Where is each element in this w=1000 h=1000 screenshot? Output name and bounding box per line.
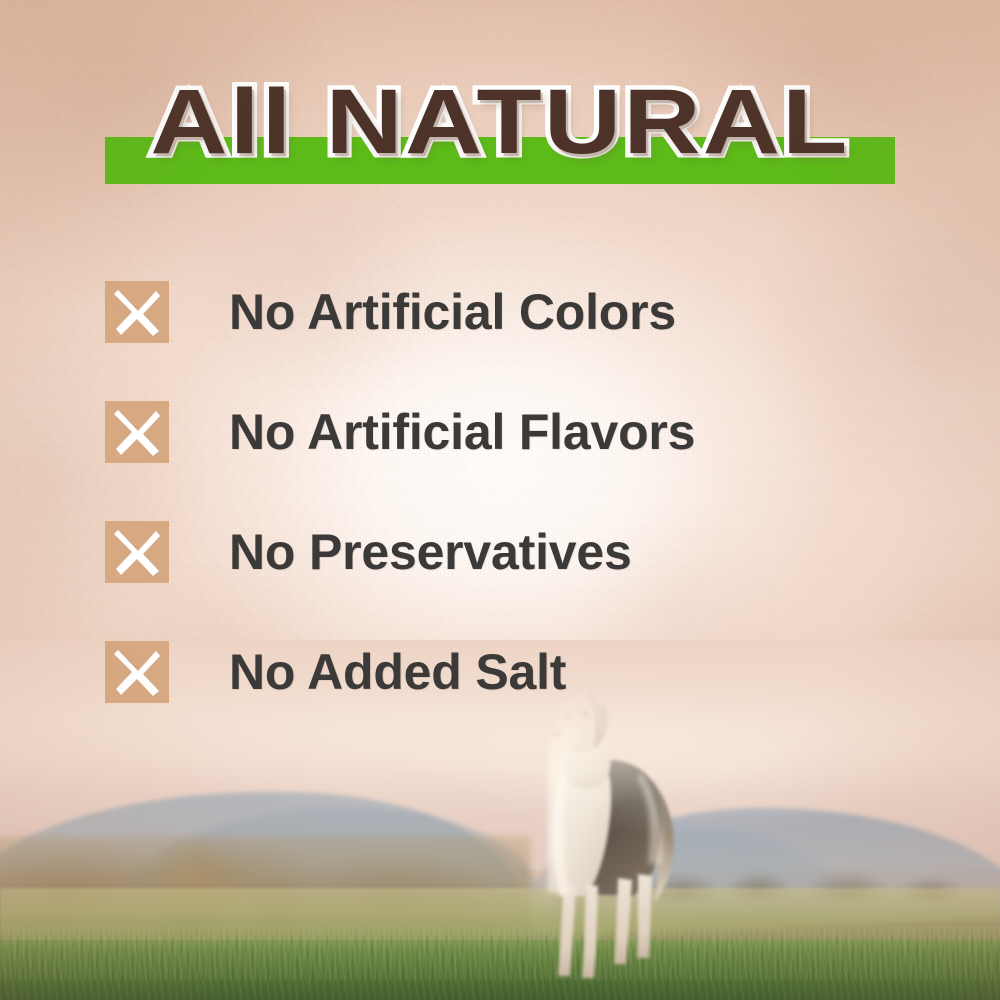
x-mark-icon bbox=[105, 401, 169, 463]
x-mark-icon bbox=[105, 281, 169, 343]
list-item: No Preservatives bbox=[105, 492, 915, 612]
all-natural-poster: All NATURAL No Artificial Colors No Arti… bbox=[0, 0, 1000, 1000]
list-item: No Added Salt bbox=[105, 612, 915, 732]
x-mark-icon bbox=[105, 641, 169, 703]
page-title: All NATURAL bbox=[0, 74, 1000, 170]
grass-bottom-shadow bbox=[0, 880, 1000, 1000]
dog-leg-front-left bbox=[558, 882, 576, 976]
list-item-label: No Added Salt bbox=[229, 641, 566, 703]
list-item-label: No Artificial Colors bbox=[229, 281, 676, 343]
feature-list: No Artificial Colors No Artificial Flavo… bbox=[105, 252, 915, 732]
x-mark-icon bbox=[105, 521, 169, 583]
list-item: No Artificial Colors bbox=[105, 252, 915, 372]
dog-leg-front-right bbox=[582, 884, 598, 978]
list-item-label: No Artificial Flavors bbox=[229, 401, 695, 463]
list-item: No Artificial Flavors bbox=[105, 372, 915, 492]
list-item-label: No Preservatives bbox=[229, 521, 632, 583]
dog-leg-hind-right bbox=[637, 874, 652, 958]
